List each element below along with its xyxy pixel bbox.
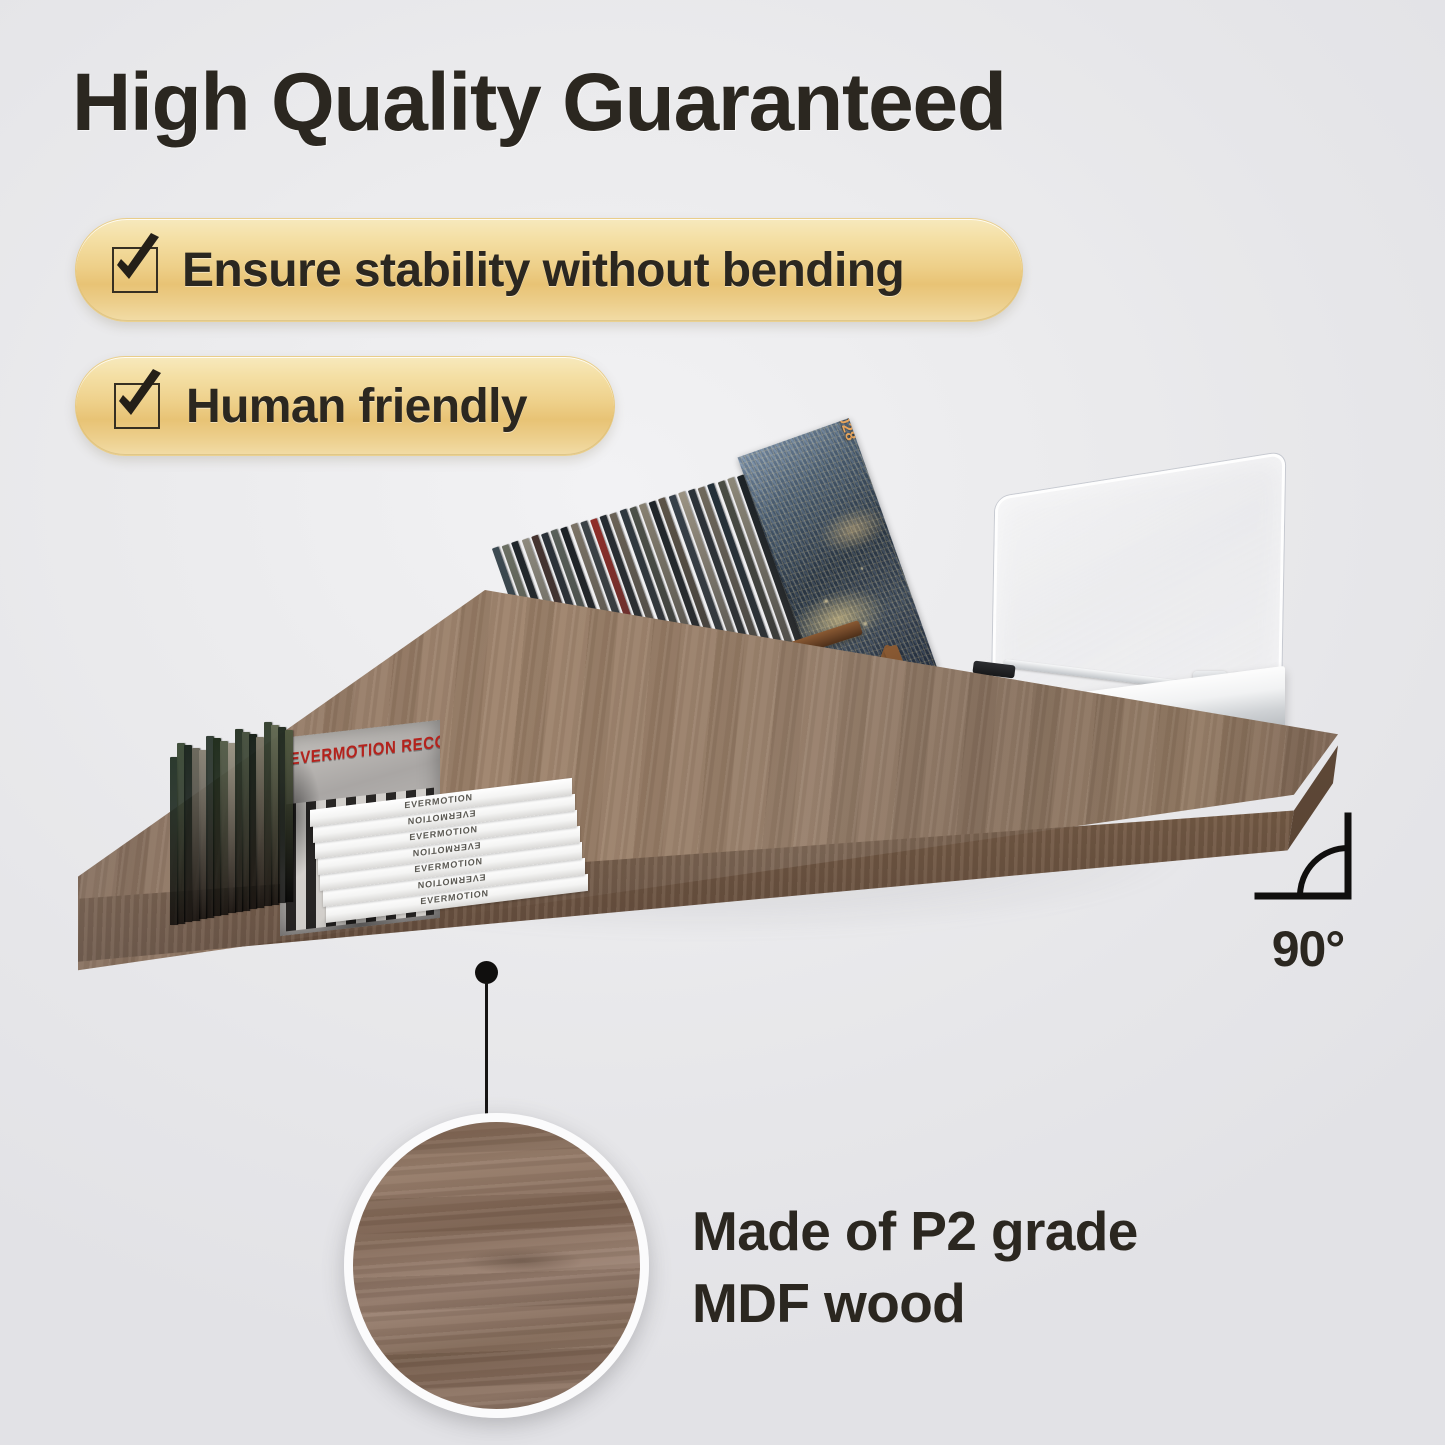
right-angle-icon (1252, 812, 1370, 917)
infographic-canvas: High Quality Guaranteed Ensure stability… (0, 0, 1445, 1445)
checkbox-checked-icon (112, 247, 158, 293)
vinyl-sleeve (285, 730, 293, 902)
material-caption: Made of P2 grade MDF wood (692, 1196, 1252, 1339)
wood-grain-zoom-circle (344, 1113, 649, 1418)
callout-anchor-dot (475, 961, 498, 984)
material-caption-line-1: Made of P2 grade (692, 1196, 1252, 1268)
checkbox-checked-icon (114, 383, 160, 429)
angle-label: 90° (1252, 920, 1364, 978)
wood-grain-knot (462, 1248, 582, 1274)
feature-badge-label: Ensure stability without bending (182, 243, 904, 298)
material-caption-line-2: MDF wood (692, 1268, 1252, 1340)
right-angle-callout: 90° (1252, 812, 1372, 992)
feature-badge-stability: Ensure stability without bending (75, 218, 1023, 322)
magazine-stack: EVERMOTIONEVERMOTIONEVERMOTIONEVERMOTION… (310, 810, 580, 945)
page-title: High Quality Guaranteed (72, 62, 1292, 144)
product-scene: Ambient Chillout 2028 Hi (0, 430, 1445, 1090)
feature-badge-label: Human friendly (186, 379, 527, 434)
